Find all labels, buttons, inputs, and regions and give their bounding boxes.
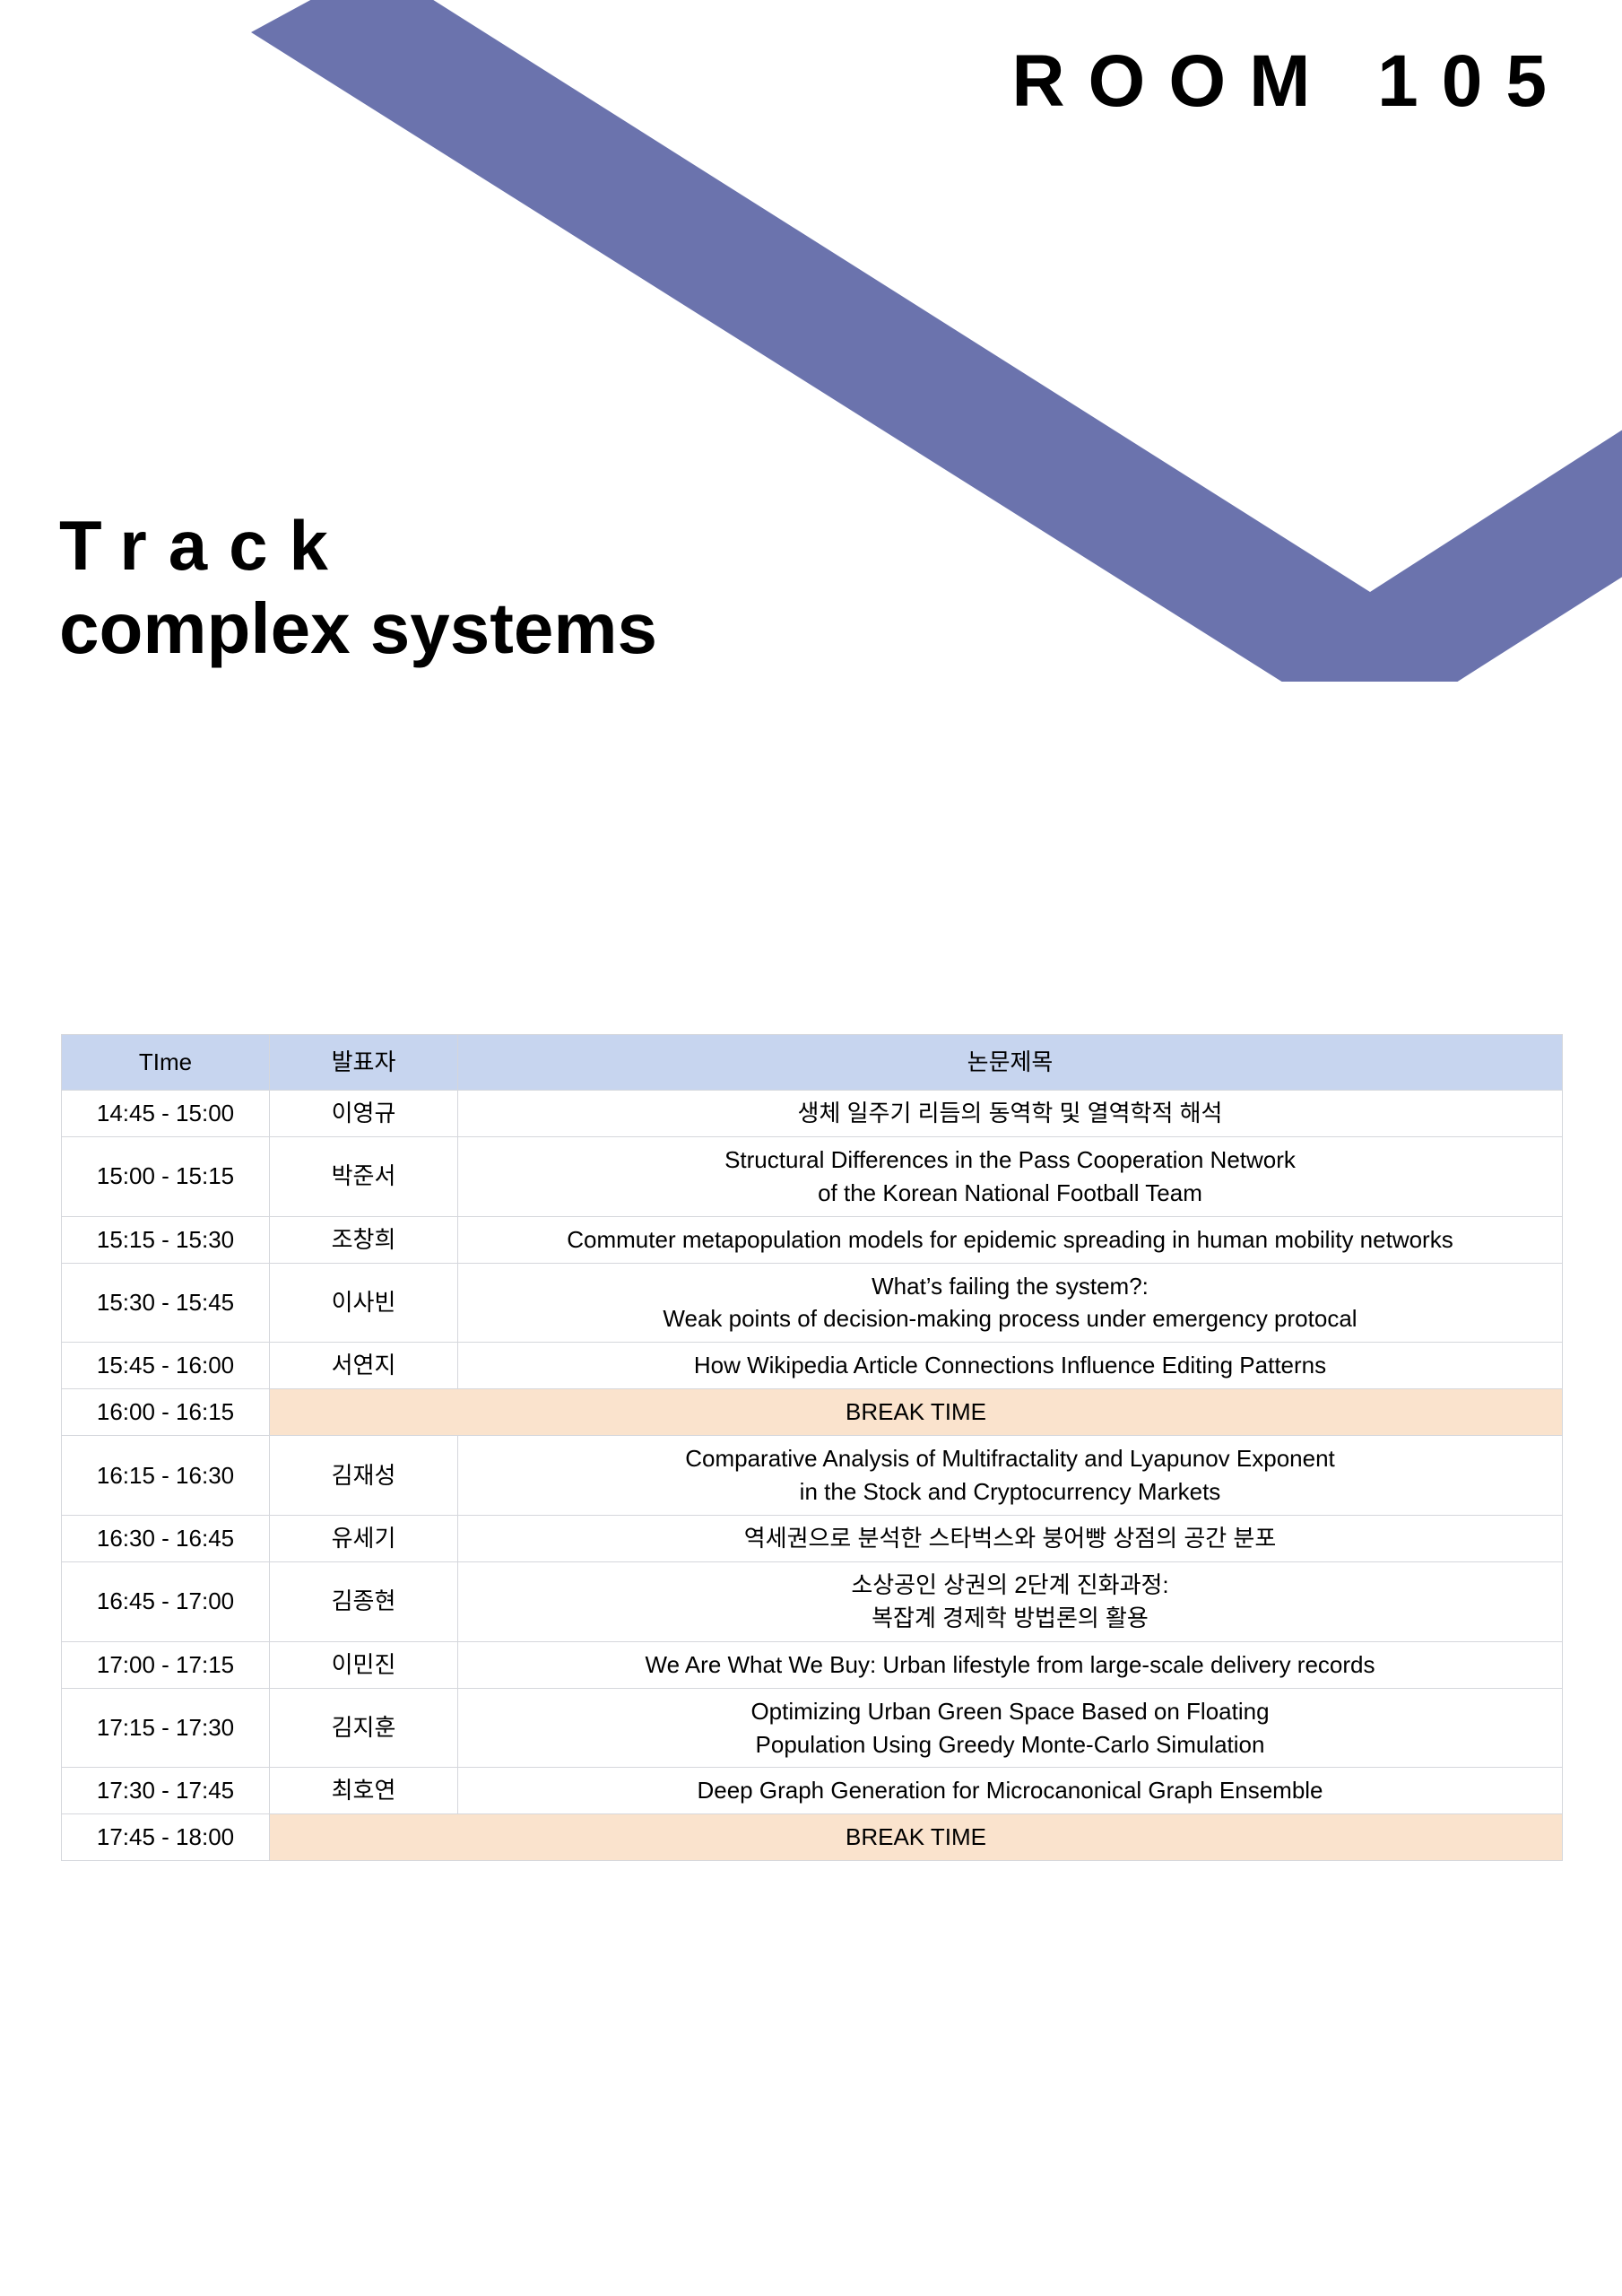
cell-time: 14:45 - 15:00	[62, 1090, 270, 1136]
paper-title-line: 소상공인 상권의 2단계 진화과정:	[465, 1569, 1555, 1602]
cell-time: 16:00 - 16:15	[62, 1389, 270, 1436]
table-row: 15:30 - 15:45이사빈What’s failing the syste…	[62, 1263, 1563, 1343]
paper-title-line: Weak points of decision-making process u…	[465, 1302, 1555, 1335]
track-title-line-2: complex systems	[59, 585, 1135, 673]
table-header-row: TIme 발표자 논문제목	[62, 1035, 1563, 1091]
cell-time: 17:45 - 18:00	[62, 1814, 270, 1861]
cell-break-label: BREAK TIME	[270, 1814, 1563, 1861]
paper-title-line: Deep Graph Generation for Microcanonical…	[465, 1774, 1555, 1807]
cell-time: 15:15 - 15:30	[62, 1216, 270, 1263]
table-row: 17:00 - 17:15이민진We Are What We Buy: Urba…	[62, 1641, 1563, 1688]
cell-presenter: 박준서	[270, 1136, 458, 1216]
cell-presenter: 이민진	[270, 1641, 458, 1688]
cell-paper-title: 역세권으로 분석한 스타벅스와 붕어빵 상점의 공간 분포	[458, 1515, 1563, 1561]
table-body: 14:45 - 15:00이영규생체 일주기 리듬의 동역학 및 열역학적 해석…	[62, 1090, 1563, 1860]
table-row: 16:00 - 16:15BREAK TIME	[62, 1389, 1563, 1436]
cell-presenter: 유세기	[270, 1515, 458, 1561]
paper-title-line: of the Korean National Football Team	[465, 1177, 1555, 1210]
track-title-line-1: Track	[59, 507, 1135, 585]
column-header-time: TIme	[62, 1035, 270, 1091]
table-row: 15:45 - 16:00서연지How Wikipedia Article Co…	[62, 1343, 1563, 1389]
cell-presenter: 이사빈	[270, 1263, 458, 1343]
cell-paper-title: 소상공인 상권의 2단계 진화과정:복잡계 경제학 방법론의 활용	[458, 1561, 1563, 1641]
table-row: 16:45 - 17:00김종현소상공인 상권의 2단계 진화과정:복잡계 경제…	[62, 1561, 1563, 1641]
cell-paper-title: What’s failing the system?:Weak points o…	[458, 1263, 1563, 1343]
cell-time: 17:00 - 17:15	[62, 1641, 270, 1688]
cell-time: 16:30 - 16:45	[62, 1515, 270, 1561]
cell-time: 16:45 - 17:00	[62, 1561, 270, 1641]
cell-time: 17:30 - 17:45	[62, 1768, 270, 1814]
cell-paper-title: 생체 일주기 리듬의 동역학 및 열역학적 해석	[458, 1090, 1563, 1136]
cell-presenter: 이영규	[270, 1090, 458, 1136]
paper-title-line: in the Stock and Cryptocurrency Markets	[465, 1475, 1555, 1509]
cell-time: 17:15 - 17:30	[62, 1688, 270, 1768]
paper-title-line: What’s failing the system?:	[465, 1270, 1555, 1303]
cell-time: 16:15 - 16:30	[62, 1436, 270, 1516]
table-header: TIme 발표자 논문제목	[62, 1035, 1563, 1091]
cell-presenter: 김종현	[270, 1561, 458, 1641]
cell-paper-title: Optimizing Urban Green Space Based on Fl…	[458, 1688, 1563, 1768]
paper-title-line: Comparative Analysis of Multifractality …	[465, 1442, 1555, 1475]
cell-paper-title: Deep Graph Generation for Microcanonical…	[458, 1768, 1563, 1814]
table-row: 17:30 - 17:45최호연Deep Graph Generation fo…	[62, 1768, 1563, 1814]
cell-time: 15:45 - 16:00	[62, 1343, 270, 1389]
cell-presenter: 최호연	[270, 1768, 458, 1814]
paper-title-line: How Wikipedia Article Connections Influe…	[465, 1349, 1555, 1382]
cell-time: 15:30 - 15:45	[62, 1263, 270, 1343]
cell-paper-title: Structural Differences in the Pass Coope…	[458, 1136, 1563, 1216]
paper-title-line: 생체 일주기 리듬의 동역학 및 열역학적 해석	[465, 1097, 1555, 1130]
table-row: 16:30 - 16:45유세기역세권으로 분석한 스타벅스와 붕어빵 상점의 …	[62, 1515, 1563, 1561]
table-row: 17:45 - 18:00BREAK TIME	[62, 1814, 1563, 1861]
schedule-table: TIme 발표자 논문제목 14:45 - 15:00이영규생체 일주기 리듬의…	[61, 1034, 1563, 1861]
table-row: 17:15 - 17:30김지훈Optimizing Urban Green S…	[62, 1688, 1563, 1768]
paper-title-line: 복잡계 경제학 방법론의 활용	[465, 1602, 1555, 1635]
column-header-presenter: 발표자	[270, 1035, 458, 1091]
cell-time: 15:00 - 15:15	[62, 1136, 270, 1216]
paper-title-line: Optimizing Urban Green Space Based on Fl…	[465, 1695, 1555, 1728]
table-row: 15:00 - 15:15박준서Structural Differences i…	[62, 1136, 1563, 1216]
poster-page: ROOM 105 Track complex systems TIme 발표자 …	[0, 0, 1622, 2296]
table-row: 15:15 - 15:30조창희Commuter metapopulation …	[62, 1216, 1563, 1263]
paper-title-line: 역세권으로 분석한 스타벅스와 붕어빵 상점의 공간 분포	[465, 1522, 1555, 1555]
cell-presenter: 서연지	[270, 1343, 458, 1389]
paper-title-line: We Are What We Buy: Urban lifestyle from…	[465, 1648, 1555, 1682]
cell-paper-title: Commuter metapopulation models for epide…	[458, 1216, 1563, 1263]
cell-presenter: 김지훈	[270, 1688, 458, 1768]
cell-presenter: 김재성	[270, 1436, 458, 1516]
cell-presenter: 조창희	[270, 1216, 458, 1263]
paper-title-line: Population Using Greedy Monte-Carlo Simu…	[465, 1728, 1555, 1761]
column-header-title: 논문제목	[458, 1035, 1563, 1091]
table-row: 16:15 - 16:30김재성Comparative Analysis of …	[62, 1436, 1563, 1516]
track-title-block: Track complex systems	[59, 507, 1135, 673]
table-row: 14:45 - 15:00이영규생체 일주기 리듬의 동역학 및 열역학적 해석	[62, 1090, 1563, 1136]
cell-paper-title: We Are What We Buy: Urban lifestyle from…	[458, 1641, 1563, 1688]
paper-title-line: Structural Differences in the Pass Coope…	[465, 1144, 1555, 1177]
cell-break-label: BREAK TIME	[270, 1389, 1563, 1436]
cell-paper-title: How Wikipedia Article Connections Influe…	[458, 1343, 1563, 1389]
room-label: ROOM 105	[1011, 43, 1570, 120]
cell-paper-title: Comparative Analysis of Multifractality …	[458, 1436, 1563, 1516]
paper-title-line: Commuter metapopulation models for epide…	[465, 1223, 1555, 1257]
schedule-table-container: TIme 발표자 논문제목 14:45 - 15:00이영규생체 일주기 리듬의…	[61, 1034, 1563, 1861]
